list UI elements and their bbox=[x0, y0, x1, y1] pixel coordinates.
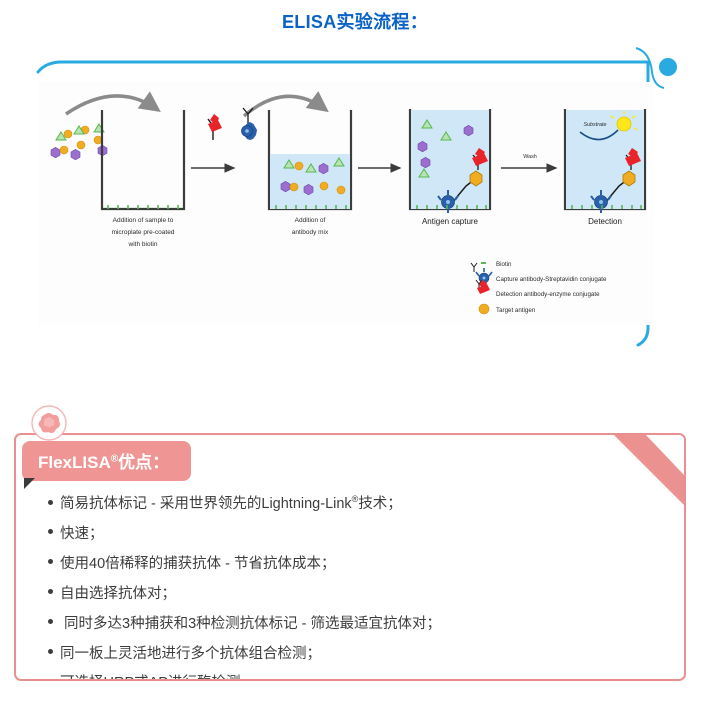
bullet-dot-icon bbox=[48, 589, 53, 594]
advantage-item-1: 简易抗体标记 - 采用世界领先的Lightning-Link®技术； bbox=[48, 495, 654, 513]
blue-dot-icon bbox=[659, 58, 677, 76]
svg-text:microplate pre-coated: microplate pre-coated bbox=[112, 229, 175, 236]
svg-text:with biotin: with biotin bbox=[128, 241, 158, 248]
advantage-item-6: 同一板上灵活地进行多个抗体组合检测； bbox=[48, 647, 654, 663]
advantage-text: 同时多达3种捕获和3种检测抗体标记 - 筛选最适宜抗体对； bbox=[60, 616, 441, 632]
advantage-item-4: 自由选择抗体对； bbox=[48, 587, 654, 603]
bullet-dot-icon bbox=[48, 619, 53, 624]
advantage-text: 自由选择抗体对； bbox=[60, 586, 176, 602]
svg-text:Antigen capture: Antigen capture bbox=[422, 217, 479, 226]
bullet-dot-icon bbox=[48, 679, 53, 681]
bullet-dot-icon bbox=[48, 559, 53, 564]
svg-text:Addition of: Addition of bbox=[295, 217, 326, 224]
target-antigen-icon bbox=[479, 304, 489, 314]
svg-text:antibody mix: antibody mix bbox=[292, 229, 329, 236]
svg-text:Addition of sample to: Addition of sample to bbox=[113, 217, 174, 224]
tag-tail-decoration bbox=[24, 478, 35, 489]
advantage-item-3: 使用40倍稀释的捕获抗体 - 节省抗体成本； bbox=[48, 557, 654, 573]
diagram-legend: Biotin Capture antibody-Streptavidin con… bbox=[471, 261, 607, 314]
svg-text:Target antigen: Target antigen bbox=[496, 307, 536, 314]
detection-antibody-legend-icon bbox=[476, 280, 490, 294]
flower-blob-badge-icon bbox=[30, 404, 68, 442]
advantage-item-7: 可选择HRP或AP进行酶检测。 bbox=[48, 676, 654, 681]
capture-antibody-icon bbox=[242, 108, 258, 140]
advantage-text: 可选择HRP或AP进行酶检测。 bbox=[60, 675, 255, 681]
advantages-title-tag: FlexLISA®优点： bbox=[22, 441, 191, 481]
svg-text:Detection antibody-enzyme conj: Detection antibody-enzyme conjugate bbox=[496, 291, 600, 298]
svg-text:Substrate: Substrate bbox=[583, 122, 606, 128]
bullet-dot-icon bbox=[48, 529, 53, 534]
svg-text:Wash: Wash bbox=[523, 154, 537, 160]
svg-text:Detection: Detection bbox=[588, 217, 622, 226]
advantage-item-2: 快速； bbox=[48, 527, 654, 543]
advantages-tag-suffix: 优点： bbox=[118, 453, 169, 472]
step-2-group: Addition of antibody mix bbox=[208, 96, 351, 236]
bullet-dot-icon bbox=[48, 649, 53, 654]
step-4-group: Substrate Detection bbox=[565, 109, 645, 226]
advantage-text: 快速； bbox=[60, 526, 104, 542]
advantages-list: 简易抗体标记 - 采用世界领先的Lightning-Link®技术； 快速； 使… bbox=[48, 495, 654, 681]
sample-particles bbox=[51, 124, 107, 160]
detection-antibody-icon bbox=[208, 114, 222, 140]
advantage-text: 使用40倍稀释的捕获抗体 - 节省抗体成本； bbox=[60, 556, 336, 572]
step-3-group: Antigen capture bbox=[410, 109, 490, 226]
advantage-text: 同一板上灵活地进行多个抗体组合检测； bbox=[60, 646, 321, 662]
advantage-item-5: 同时多达3种捕获和3种检测抗体标记 - 筛选最适宜抗体对； bbox=[48, 617, 654, 633]
advantage-text-post: 技术； bbox=[358, 496, 402, 512]
page-title: ELISA实验流程： bbox=[0, 8, 710, 34]
svg-text:Biotin: Biotin bbox=[496, 261, 512, 268]
svg-text:Capture antibody-Streptavidin: Capture antibody-Streptavidin conjugate bbox=[496, 276, 607, 283]
advantage-text: 简易抗体标记 - 采用世界领先的Lightning-Link bbox=[60, 496, 352, 512]
elisa-workflow-diagram: Addition of sample to microplate pre-coa… bbox=[38, 82, 653, 325]
advantages-tag-prefix: FlexLISA bbox=[38, 453, 111, 472]
step-1-group: Addition of sample to microplate pre-coa… bbox=[51, 96, 184, 248]
bullet-dot-icon bbox=[48, 500, 53, 505]
